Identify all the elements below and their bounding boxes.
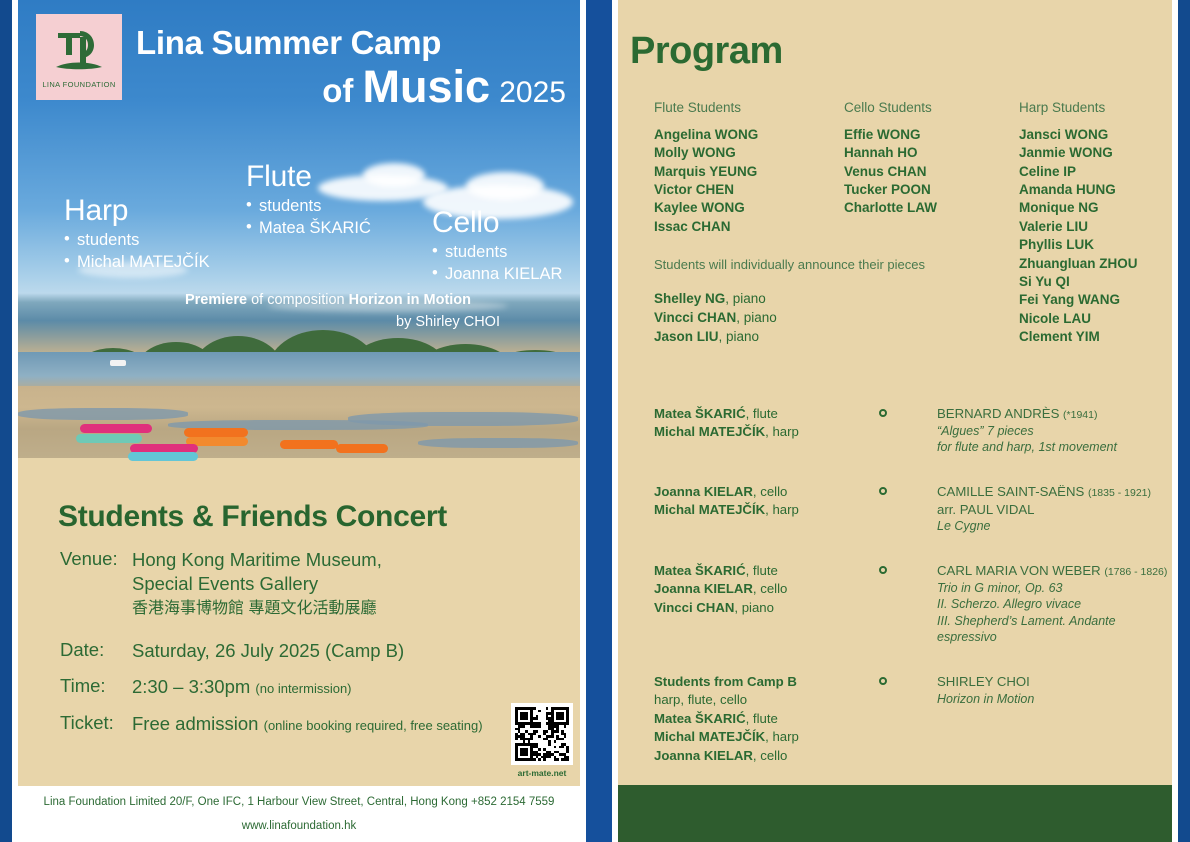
composer-dates: (1786 - 1826): [1104, 566, 1167, 578]
student-name: Effie WONG: [844, 126, 1019, 144]
performer-entry: Matea ŠKARIĆ, flute: [654, 405, 879, 423]
performer-role: , cello: [753, 484, 787, 499]
performer-role: , cello: [753, 581, 787, 596]
info-row-time: Time: 2:30 – 3:30pm (no intermission): [60, 675, 570, 699]
composer-name: SHIRLEY CHOI: [937, 673, 1172, 691]
student-name: Amanda HUNG: [1019, 181, 1172, 199]
booking-qr-block[interactable]: art-mate.net: [506, 703, 578, 778]
student-name: Si Yu QI: [1019, 273, 1172, 291]
student-name: Jansci WONG: [1019, 126, 1172, 144]
performer-role: , flute: [746, 711, 778, 726]
student-name: Hannah HO: [844, 144, 1019, 162]
bullet-marker-cell: [879, 562, 937, 646]
student-name: Marquis YEUNG: [654, 163, 844, 181]
student-name: Issac CHAN: [654, 218, 844, 236]
performer-role: , piano: [734, 600, 774, 615]
performer-name: Joanna KIELAR: [654, 748, 753, 763]
repertoire-work: BERNARD ANDRÈS (*1941)“Algues” 7 piecesf…: [937, 405, 1172, 456]
work-title-line: for flute and harp, 1st movement: [937, 439, 1172, 456]
instrument-item: students: [64, 230, 210, 252]
cloud-shape: [466, 172, 544, 200]
instrument-item: Joanna KIELAR: [432, 264, 562, 286]
student-name: Molly WONG: [654, 144, 844, 162]
circle-bullet-icon: [879, 487, 887, 495]
tidepool-shape: [18, 408, 188, 420]
repertoire-performers: Students from Camp Bharp, flute, celloMa…: [654, 673, 879, 765]
student-name: Fei Yang WANG: [1019, 291, 1172, 309]
work-title-line: “Algues” 7 pieces: [937, 423, 1172, 440]
performer-name: Vincci CHAN: [654, 310, 736, 325]
student-name: Valerie LIU: [1019, 218, 1172, 236]
venue-label: Venue:: [60, 548, 132, 620]
instrument-item: students: [432, 242, 562, 264]
ticket-value: Free admission (online booking required,…: [132, 712, 483, 736]
boat-shape: [110, 360, 126, 366]
venue-value: Hong Kong Maritime Museum, Special Event…: [132, 548, 382, 620]
work-title-line: Trio in G minor, Op. 63: [937, 580, 1172, 597]
performer-name: Vincci CHAN: [654, 600, 734, 615]
performer-name: Joanna KIELAR: [654, 484, 753, 499]
performer-name: Jason LIU: [654, 329, 719, 344]
pianist-entry: Vincci CHAN, piano: [654, 309, 777, 328]
left-poster-panel: LINA FOUNDATION Lina Summer Camp of Musi…: [18, 0, 580, 842]
bullet-marker-cell: [879, 405, 937, 456]
repertoire-list: Matea ŠKARIĆ, fluteMichal MATEJČÍK, harp…: [654, 405, 1172, 792]
performer-entry: Students from Camp B: [654, 673, 879, 691]
time-value: 2:30 – 3:30pm (no intermission): [132, 675, 352, 699]
qr-code-icon[interactable]: [511, 703, 573, 765]
student-name: Kaylee WONG: [654, 199, 844, 217]
footer-address: Lina Foundation Limited 20/F, One IFC, 1…: [18, 796, 580, 808]
performer-name: Students from Camp B: [654, 674, 797, 689]
lina-foundation-logo: LINA FOUNDATION: [36, 14, 122, 100]
performer-entry: Michal MATEJČÍK, harp: [654, 501, 879, 519]
performer-name: Matea ŠKARIĆ: [654, 711, 746, 726]
performer-entry: Joanna KIELAR, cello: [654, 747, 879, 765]
instrument-block-cello: Cello students Joanna KIELAR: [432, 208, 562, 286]
instrument-item: students: [246, 196, 371, 218]
kayak-shape: [80, 424, 152, 433]
ticket-note: (online booking required, free seating): [264, 718, 483, 733]
work-title-line: II. Scherzo. Allegro vivace: [937, 596, 1172, 613]
composer-name: CARL MARIA VON WEBER (1786 - 1826): [937, 562, 1172, 580]
premiere-word: Premiere: [185, 292, 247, 308]
premiere-mid: of composition: [247, 292, 349, 308]
instrument-block-flute: Flute students Matea ŠKARIĆ: [246, 162, 371, 240]
composer-name: CAMILLE SAINT-SAËNS (1835 - 1921): [937, 483, 1172, 501]
column-header: Cello Students: [844, 100, 1019, 115]
performer-role: , harp: [765, 502, 799, 517]
bottom-green-bar: [618, 785, 1172, 842]
performer-entry: Joanna KIELAR, cello: [654, 580, 879, 598]
performer-name: Shelley NG: [654, 291, 725, 306]
performer-name: Joanna KIELAR: [654, 581, 753, 596]
performer-role: , flute: [746, 563, 778, 578]
info-row-venue: Venue: Hong Kong Maritime Museum, Specia…: [60, 548, 570, 620]
student-name: Clement YIM: [1019, 328, 1172, 346]
pianist-list: Shelley NG, pianoVincci CHAN, pianoJason…: [654, 290, 777, 346]
instrument-block-harp: Harp students Michal MATEJČÍK: [64, 196, 210, 274]
kayak-shape: [76, 434, 142, 443]
performer-entry: Michal MATEJČÍK, harp: [654, 423, 879, 441]
student-list: Jansci WONGJanmie WONGCeline IPAmanda HU…: [1019, 126, 1172, 346]
performer-entry: Vincci CHAN, piano: [654, 599, 879, 617]
kayak-shape: [336, 444, 388, 453]
arranger-name: arr. PAUL VIDAL: [937, 501, 1172, 519]
venue-line-2: Special Events Gallery: [132, 573, 318, 594]
repertoire-item: Students from Camp Bharp, flute, celloMa…: [654, 673, 1172, 765]
student-list: Effie WONGHannah HOVenus CHANTucker POON…: [844, 126, 1019, 218]
instrument-item: Michal MATEJČÍK: [64, 252, 210, 274]
kayak-shape: [128, 452, 198, 461]
student-name: Angelina WONG: [654, 126, 844, 144]
repertoire-work: SHIRLEY CHOI Horizon in Motion: [937, 673, 1172, 765]
instrument-item: Matea ŠKARIĆ: [246, 218, 371, 240]
column-cello-students: Cello Students Effie WONGHannah HOVenus …: [844, 100, 1019, 346]
instrument-name: Harp: [64, 196, 210, 226]
performer-name: Michal MATEJČÍK: [654, 502, 765, 517]
title-of: of: [322, 72, 353, 109]
student-name: Monique NG: [1019, 199, 1172, 217]
announcement-note: Students will individually announce thei…: [654, 257, 925, 272]
student-name: Phyllis LUK: [1019, 236, 1172, 254]
performer-role: , harp: [765, 729, 799, 744]
right-program-panel: Program Flute Students Angelina WONGMoll…: [618, 0, 1172, 842]
circle-bullet-icon: [879, 566, 887, 574]
time-note: (no intermission): [255, 681, 351, 696]
venue-line-1: Hong Kong Maritime Museum,: [132, 549, 382, 570]
performer-name: Michal MATEJČÍK: [654, 729, 765, 744]
venue-chinese: 香港海事博物館 專題文化活動展廳: [132, 599, 382, 619]
tidepool-shape: [348, 412, 578, 426]
info-row-ticket: Ticket: Free admission (online booking r…: [60, 712, 570, 736]
title-year: 2025: [499, 76, 566, 109]
instrument-name: Cello: [432, 208, 562, 238]
poster-title: Lina Summer Camp of Music 2025: [136, 26, 566, 110]
repertoire-performers: Joanna KIELAR, celloMichal MATEJČÍK, har…: [654, 483, 879, 535]
performer-name: Matea ŠKARIĆ: [654, 563, 746, 578]
performer-name: Michal MATEJČÍK: [654, 424, 765, 439]
performer-role: , piano: [736, 310, 777, 325]
pianist-entry: Shelley NG, piano: [654, 290, 777, 309]
student-name: Venus CHAN: [844, 163, 1019, 181]
frame-right-band: [1178, 0, 1190, 842]
repertoire-item: Joanna KIELAR, celloMichal MATEJČÍK, har…: [654, 483, 1172, 535]
student-name: Nicole LAU: [1019, 310, 1172, 328]
work-title-line: III. Shepherd’s Lament. Andante espressi…: [937, 613, 1172, 646]
work-title-line: Le Cygne: [937, 518, 1172, 535]
performer-entry: harp, flute, cello: [654, 691, 879, 709]
kayak-shape: [280, 440, 338, 449]
concert-title: Students & Friends Concert: [58, 500, 558, 534]
student-name: Tucker POON: [844, 181, 1019, 199]
cloud-shape: [363, 163, 425, 187]
frame-middle-band: [586, 0, 614, 842]
time-label: Time:: [60, 675, 132, 699]
repertoire-item: Matea ŠKARIĆ, fluteMichal MATEJČÍK, harp…: [654, 405, 1172, 456]
repertoire-performers: Matea ŠKARIĆ, fluteMichal MATEJČÍK, harp: [654, 405, 879, 456]
student-name: Zhuangluan ZHOU: [1019, 255, 1172, 273]
ticket-text: Free admission: [132, 713, 258, 734]
composer-dates: (1835 - 1921): [1088, 487, 1151, 499]
performer-role: , piano: [725, 291, 766, 306]
pianist-entry: Jason LIU, piano: [654, 328, 777, 347]
kayak-shape: [184, 428, 248, 437]
repertoire-performers: Matea ŠKARIĆ, fluteJoanna KIELAR, celloV…: [654, 562, 879, 646]
circle-bullet-icon: [879, 409, 887, 417]
logo-caption: LINA FOUNDATION: [42, 80, 115, 89]
student-name: Celine IP: [1019, 163, 1172, 181]
title-line-1: Lina Summer Camp: [136, 26, 566, 61]
repertoire-item: Matea ŠKARIĆ, fluteJoanna KIELAR, celloV…: [654, 562, 1172, 646]
instrument-name: Flute: [246, 162, 371, 192]
performer-entry: Joanna KIELAR, cello: [654, 483, 879, 501]
time-text: 2:30 – 3:30pm: [132, 676, 250, 697]
student-name: Janmie WONG: [1019, 144, 1172, 162]
performer-name: Matea ŠKARIĆ: [654, 406, 746, 421]
ticket-label: Ticket:: [60, 712, 132, 736]
performer-entry: Matea ŠKARIĆ, flute: [654, 710, 879, 728]
bullet-marker-cell: [879, 483, 937, 535]
performer-role: , cello: [753, 748, 787, 763]
repertoire-work: CAMILLE SAINT-SAËNS (1835 - 1921)arr. PA…: [937, 483, 1172, 535]
frame-left-band: [0, 0, 12, 842]
circle-bullet-icon: [879, 677, 887, 685]
performer-entry: Matea ŠKARIĆ, flute: [654, 562, 879, 580]
lina-monogram-icon: [50, 25, 108, 77]
composer-dates: (*1941): [1063, 409, 1097, 421]
work-title-line: Horizon in Motion: [937, 691, 1172, 708]
composer-name: BERNARD ANDRÈS (*1941): [937, 405, 1172, 423]
column-header: Flute Students: [654, 100, 844, 115]
student-list: Angelina WONGMolly WONGMarquis YEUNGVict…: [654, 126, 844, 236]
student-name: Victor CHEN: [654, 181, 844, 199]
performer-role: , piano: [719, 329, 760, 344]
concert-info: Venue: Hong Kong Maritime Museum, Specia…: [60, 548, 570, 739]
premiere-composer: by Shirley CHOI: [118, 312, 538, 334]
column-header: Harp Students: [1019, 100, 1172, 115]
premiere-note: Premiere of composition Horizon in Motio…: [118, 290, 538, 334]
qr-caption: art-mate.net: [506, 768, 578, 778]
info-row-date: Date: Saturday, 26 July 2025 (Camp B): [60, 639, 570, 663]
title-line-2: of Music 2025: [136, 63, 566, 110]
footer-strip: [18, 786, 580, 842]
title-music: Music: [363, 61, 491, 112]
date-value: Saturday, 26 July 2025 (Camp B): [132, 639, 404, 663]
performer-role: , harp: [765, 424, 799, 439]
repertoire-work: CARL MARIA VON WEBER (1786 - 1826)Trio i…: [937, 562, 1172, 646]
bullet-marker-cell: [879, 673, 937, 765]
tidepool-shape: [418, 438, 578, 448]
premiere-work: Horizon in Motion: [349, 292, 471, 308]
performer-role: harp, flute, cello: [654, 692, 747, 707]
column-harp-students: Harp Students Jansci WONGJanmie WONGCeli…: [1019, 100, 1172, 346]
date-label: Date:: [60, 639, 132, 663]
performer-entry: Michal MATEJČÍK, harp: [654, 728, 879, 746]
program-heading: Program: [630, 30, 783, 73]
footer-website[interactable]: www.linafoundation.hk: [18, 820, 580, 832]
performer-role: , flute: [746, 406, 778, 421]
student-name: Charlotte LAW: [844, 199, 1019, 217]
